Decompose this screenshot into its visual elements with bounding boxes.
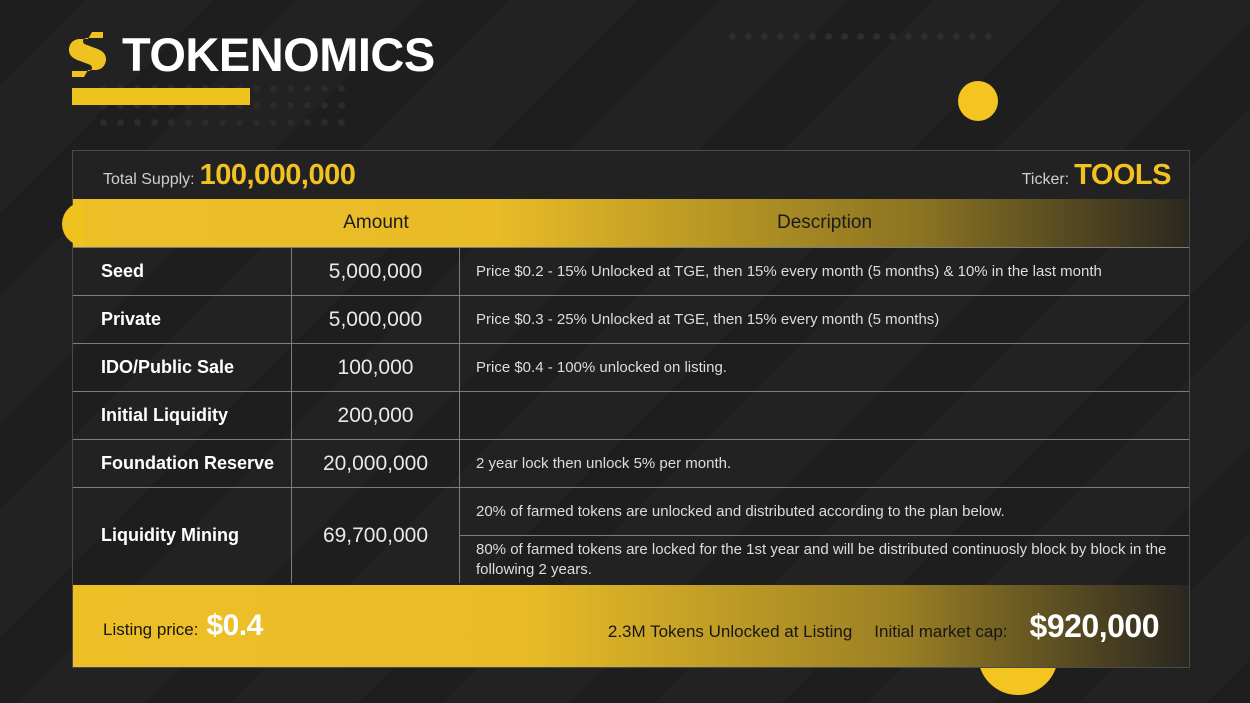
ticker-label: Ticker: — [1022, 171, 1069, 189]
row-amount: 200,000 — [292, 392, 460, 439]
supply-strip: Total Supply: 100,000,000 Ticker: TOOLS — [73, 151, 1189, 199]
table-row: Initial Liquidity 200,000 — [73, 391, 1189, 439]
total-supply-group: Total Supply: 100,000,000 — [103, 159, 355, 192]
description-line: Price $0.4 - 100% unlocked on listing. — [460, 344, 1189, 391]
s-token-logo-icon — [68, 30, 108, 78]
row-name: Seed — [73, 248, 292, 295]
description-line: Price $0.2 - 15% Unlocked at TGE, then 1… — [460, 248, 1189, 295]
decorative-circle-top-right — [958, 81, 998, 121]
market-cap-value: $920,000 — [1030, 608, 1159, 645]
ticker-group: Ticker: TOOLS — [1022, 159, 1171, 192]
column-header-name — [73, 199, 292, 247]
row-amount: 69,700,000 — [292, 488, 460, 583]
footer-right-group: 2.3M Tokens Unlocked at Listing Initial … — [608, 608, 1159, 645]
tokens-unlocked-label: 2.3M Tokens Unlocked at Listing — [608, 622, 852, 642]
decorative-half-circle-left — [62, 202, 84, 246]
column-header-amount: Amount — [292, 199, 460, 247]
row-description: Price $0.3 - 25% Unlocked at TGE, then 1… — [460, 296, 1189, 343]
decorative-dot-row — [729, 33, 992, 40]
row-description — [460, 392, 1189, 439]
row-description: Price $0.4 - 100% unlocked on listing. — [460, 344, 1189, 391]
listing-price-label: Listing price: — [103, 620, 198, 640]
row-amount: 100,000 — [292, 344, 460, 391]
row-description: 20% of farmed tokens are unlocked and di… — [460, 488, 1189, 583]
page-title: TOKENOMICS — [122, 31, 435, 78]
table-row: IDO/Public Sale 100,000 Price $0.4 - 100… — [73, 343, 1189, 391]
description-line: 2 year lock then unlock 5% per month. — [460, 440, 1189, 487]
row-description: Price $0.2 - 15% Unlocked at TGE, then 1… — [460, 248, 1189, 295]
row-amount: 20,000,000 — [292, 440, 460, 487]
tokenomics-card: Total Supply: 100,000,000 Ticker: TOOLS … — [72, 150, 1190, 668]
description-line: 80% of farmed tokens are locked for the … — [460, 535, 1189, 583]
row-amount: 5,000,000 — [292, 248, 460, 295]
row-name: Private — [73, 296, 292, 343]
column-header-description: Description — [460, 199, 1189, 247]
listing-price-value: $0.4 — [206, 609, 262, 643]
row-description: 2 year lock then unlock 5% per month. — [460, 440, 1189, 487]
tokenomics-slide: TOKENOMICS Total Supply: 100,000,000 Tic… — [0, 0, 1250, 703]
market-cap-label: Initial market cap: — [874, 622, 1007, 642]
table-header-row: Amount Description — [73, 199, 1189, 247]
total-supply-value: 100,000,000 — [200, 159, 356, 192]
listing-price-group: Listing price: $0.4 — [103, 609, 263, 643]
table-row: Private 5,000,000 Price $0.3 - 25% Unloc… — [73, 295, 1189, 343]
row-name: Foundation Reserve — [73, 440, 292, 487]
row-name: Initial Liquidity — [73, 392, 292, 439]
total-supply-label: Total Supply: — [103, 171, 195, 189]
ticker-value: TOOLS — [1074, 159, 1171, 192]
footer-summary-bar: Listing price: $0.4 2.3M Tokens Unlocked… — [73, 585, 1189, 667]
table-row: Liquidity Mining 69,700,000 20% of farme… — [73, 487, 1189, 583]
description-line: Price $0.3 - 25% Unlocked at TGE, then 1… — [460, 296, 1189, 343]
row-name: Liquidity Mining — [73, 488, 292, 583]
row-amount: 5,000,000 — [292, 296, 460, 343]
page-title-group: TOKENOMICS — [68, 30, 435, 78]
table-row: Foundation Reserve 20,000,000 2 year loc… — [73, 439, 1189, 487]
description-line — [460, 392, 1189, 439]
description-line: 20% of farmed tokens are unlocked and di… — [460, 488, 1189, 535]
row-name: IDO/Public Sale — [73, 344, 292, 391]
title-underline-bar — [72, 88, 250, 105]
table-row: Seed 5,000,000 Price $0.2 - 15% Unlocked… — [73, 247, 1189, 295]
